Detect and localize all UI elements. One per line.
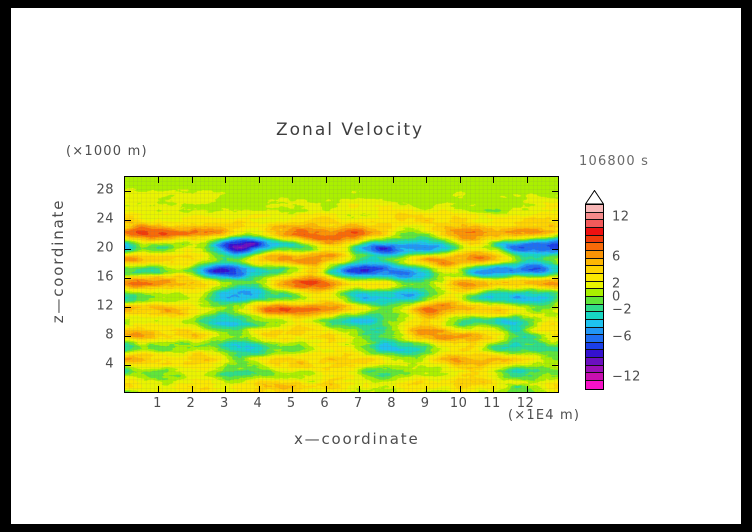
x-axis-tick [158, 177, 159, 183]
y-axis-tick-label: 8 [80, 328, 114, 343]
x-axis-tick-label: 8 [387, 396, 396, 411]
x-axis-tick [493, 386, 494, 392]
colorbar-band [586, 282, 603, 290]
colorbar-band [586, 213, 603, 221]
y-axis-tick [125, 278, 131, 279]
y-axis-tick [552, 336, 558, 337]
colorbar-band [586, 205, 603, 213]
x-axis-tick-label: 1 [153, 396, 162, 411]
x-axis-tick [460, 386, 461, 392]
x-axis-tick [326, 386, 327, 392]
y-axis-tick-label: 4 [80, 357, 114, 372]
colorbar-band [586, 335, 603, 343]
x-axis-tick-label: 9 [421, 396, 430, 411]
y-axis-tick-label: 24 [80, 212, 114, 227]
x-axis-tick-label: 7 [354, 396, 363, 411]
heatmap-plot-area [124, 176, 559, 393]
colorbar-band [586, 251, 603, 259]
y-axis-tick-label: 20 [80, 241, 114, 256]
colorbar-band [586, 358, 603, 366]
colorbar [585, 204, 604, 390]
x-axis-tick [493, 177, 494, 183]
contour-field-canvas [125, 177, 558, 392]
y-axis-tick [552, 365, 558, 366]
y-axis-tick [125, 249, 131, 250]
y-axis-tick [552, 307, 558, 308]
x-axis-tick-label: 10 [450, 396, 468, 411]
contour-field [125, 177, 558, 392]
colorbar-band [586, 366, 603, 374]
x-axis-tick [359, 177, 360, 183]
x-axis-tick [527, 386, 528, 392]
x-axis-tick [158, 386, 159, 392]
x-axis-tick [259, 386, 260, 392]
x-axis-tick [326, 177, 327, 183]
colorbar-band [586, 220, 603, 228]
y-axis-tick [552, 278, 558, 279]
y-axis-tick [552, 249, 558, 250]
colorbar-top-arrow-icon [585, 190, 604, 205]
colorbar-tick-label: −6 [612, 329, 632, 344]
colorbar-band [586, 305, 603, 313]
x-axis-unit-label: (×1E4 m) [508, 408, 580, 423]
x-axis-title: x—coordinate [294, 430, 419, 448]
y-axis-tick-label: 16 [80, 270, 114, 285]
colorbar-band [586, 259, 603, 267]
colorbar-tick-label: −2 [612, 303, 632, 318]
y-axis-tick [125, 191, 131, 192]
x-axis-tick [292, 386, 293, 392]
y-axis-tick [125, 220, 131, 221]
x-axis-tick [225, 386, 226, 392]
colorbar-band [586, 297, 603, 305]
y-axis-tick-label: 28 [80, 183, 114, 198]
y-axis-title: z—coordinate [49, 181, 67, 341]
x-axis-tick [292, 177, 293, 183]
colorbar-band [586, 312, 603, 320]
y-axis-tick [552, 191, 558, 192]
x-axis-tick [225, 177, 226, 183]
colorbar-band [586, 343, 603, 351]
x-axis-tick-label: 2 [187, 396, 196, 411]
y-axis-tick [125, 365, 131, 366]
colorbar-band [586, 289, 603, 297]
x-axis-tick [460, 177, 461, 183]
x-axis-tick-label: 3 [220, 396, 229, 411]
x-axis-tick [259, 177, 260, 183]
x-axis-tick [359, 386, 360, 392]
x-axis-tick-label: 6 [320, 396, 329, 411]
x-axis-tick [426, 386, 427, 392]
x-axis-tick-label: 4 [253, 396, 262, 411]
colorbar-band [586, 328, 603, 336]
colorbar-band [586, 274, 603, 282]
colorbar-band [586, 373, 603, 381]
y-axis-tick-label: 12 [80, 299, 114, 314]
colorbar-band [586, 266, 603, 274]
x-axis-tick [192, 386, 193, 392]
x-axis-tick-label: 11 [483, 396, 501, 411]
y-axis-tick [125, 336, 131, 337]
y-axis-unit-label: (×1000 m) [66, 144, 148, 159]
x-axis-tick [192, 177, 193, 183]
timestamp-label: 106800 s [579, 154, 649, 169]
figure-canvas: Zonal Velocity (×1000 m) 106800 s z—coor… [11, 8, 741, 524]
x-axis-tick [426, 177, 427, 183]
x-axis-tick-label: 5 [287, 396, 296, 411]
colorbar-band [586, 243, 603, 251]
colorbar-band [586, 320, 603, 328]
colorbar-band [586, 228, 603, 236]
x-axis-tick [393, 386, 394, 392]
colorbar-tick-label: 12 [612, 210, 630, 225]
colorbar-tick-label: −12 [612, 369, 641, 384]
colorbar-tick-label: 6 [612, 250, 621, 265]
colorbar-band [586, 350, 603, 358]
chart-title: Zonal Velocity [276, 120, 424, 140]
y-axis-tick [552, 220, 558, 221]
colorbar-band [586, 381, 603, 389]
colorbar-band [586, 236, 603, 244]
x-axis-tick [393, 177, 394, 183]
x-axis-tick [527, 177, 528, 183]
y-axis-tick [125, 307, 131, 308]
